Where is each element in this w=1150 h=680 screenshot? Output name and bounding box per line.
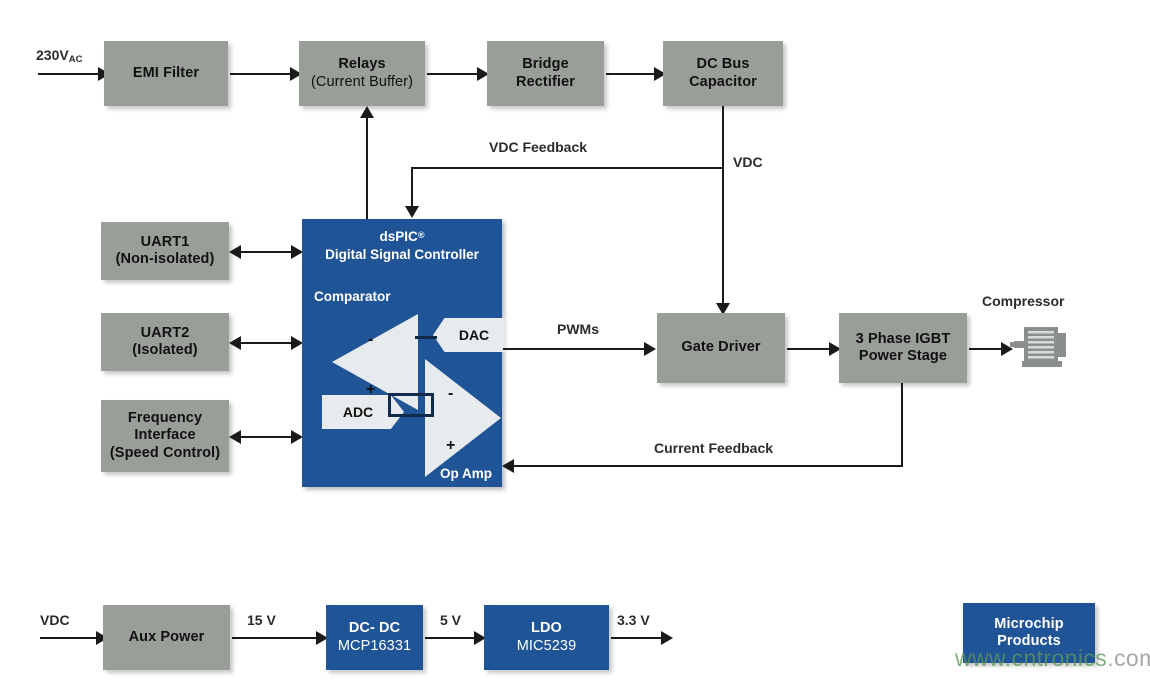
wire-uart2-bus <box>240 342 294 344</box>
opamp-label: Op Amp <box>440 466 492 481</box>
wire-emi-to-relays <box>230 73 292 75</box>
wire-ldo-output <box>611 637 663 639</box>
motor-end-cap <box>1056 333 1066 357</box>
block-emi-filter[interactable]: EMI Filter <box>104 41 228 106</box>
wire-auxpower-to-dcdc <box>232 637 318 639</box>
arrow-freq-left <box>229 430 241 444</box>
wire-vdc-feedback-horizontal <box>411 167 723 169</box>
comparator-minus-sign: - <box>368 332 373 348</box>
block-aux-power[interactable]: Aux Power <box>103 605 230 670</box>
wire-vdc-to-auxpower <box>40 637 98 639</box>
block-relays[interactable]: Relays (Current Buffer) <box>299 41 425 106</box>
dspic-title: dsPIC® Digital Signal Controller <box>302 228 502 264</box>
wire-vdc-bus <box>722 106 724 310</box>
wire-current-feedback-vertical <box>901 383 903 467</box>
block-dc-bus-capacitor[interactable]: DC Bus Capacitor <box>663 41 783 106</box>
rail-3v3-label: 3.3 V <box>617 612 650 628</box>
block-ldo[interactable]: LDO MIC5239 <box>484 605 609 670</box>
wire-rectifier-to-dcbus <box>606 73 656 75</box>
vdc-feedback-label: VDC Feedback <box>489 139 587 155</box>
pwms-label: PWMs <box>557 321 599 337</box>
wire-current-feedback-horizontal <box>513 465 903 467</box>
comparator-label: Comparator <box>314 289 391 304</box>
block-bridge-rectifier[interactable]: Bridge Rectifier <box>487 41 604 106</box>
wire-freq-bus <box>240 436 294 438</box>
input-voltage-label: 230VAC <box>36 47 82 65</box>
supply-input-label: VDC <box>40 612 70 628</box>
compressor-label: Compressor <box>982 293 1064 309</box>
arrow-relay-control <box>360 106 374 118</box>
wire-dac-to-comparator <box>415 336 437 339</box>
wire-comparator-plus-stub <box>388 393 391 415</box>
arrow-vdc-feedback-to-dspic <box>405 206 419 218</box>
block-dspic-controller[interactable]: dsPIC® Digital Signal Controller Compara… <box>302 219 502 487</box>
adc-symbol: ADC <box>322 395 404 429</box>
rail-15v-label: 15 V <box>247 612 276 628</box>
wire-dcdc-to-ldo <box>425 637 476 639</box>
motor-base <box>1022 361 1062 367</box>
wire-relays-to-rectifier <box>427 73 479 75</box>
wire-uart1-bus <box>240 251 294 253</box>
wire-igbt-to-compressor <box>969 348 1005 350</box>
wire-gatedriver-to-igbt <box>787 348 831 350</box>
wire-relay-control <box>366 117 368 220</box>
arrow-pwms-to-gate-driver <box>644 342 656 356</box>
wire-comparator-plus-run <box>388 393 434 396</box>
diagram-canvas: 230VAC EMI Filter Relays (Current Buffer… <box>0 0 1150 680</box>
wire-node-bus <box>388 414 434 417</box>
rail-5v-label: 5 V <box>440 612 461 628</box>
block-uart1[interactable]: UART1 (Non-isolated) <box>101 222 229 280</box>
wire-input-to-emi <box>38 73 100 75</box>
arrow-uart2-left <box>229 336 241 350</box>
arrow-current-feedback-to-dspic <box>502 459 514 473</box>
wire-pwms <box>503 348 646 350</box>
opamp-symbol <box>425 359 501 477</box>
block-igbt-power-stage[interactable]: 3 Phase IGBT Power Stage <box>839 313 967 383</box>
opamp-minus-sign: - <box>448 386 453 402</box>
opamp-plus-sign: + <box>446 438 455 454</box>
arrow-ldo-output <box>661 631 673 645</box>
watermark: www.cntronics.com <box>955 645 1150 672</box>
motor-cooling-fins <box>1028 331 1054 359</box>
block-dc-dc-converter[interactable]: DC- DC MCP16331 <box>326 605 423 670</box>
block-frequency-interface[interactable]: Frequency Interface (Speed Control) <box>101 400 229 472</box>
block-gate-driver[interactable]: Gate Driver <box>657 313 785 383</box>
block-uart2[interactable]: UART2 (Isolated) <box>101 313 229 371</box>
arrow-uart1-left <box>229 245 241 259</box>
dac-symbol: DAC <box>433 318 505 352</box>
vdc-label: VDC <box>733 154 763 170</box>
motor-icon <box>1010 325 1072 371</box>
current-feedback-label: Current Feedback <box>654 440 773 456</box>
